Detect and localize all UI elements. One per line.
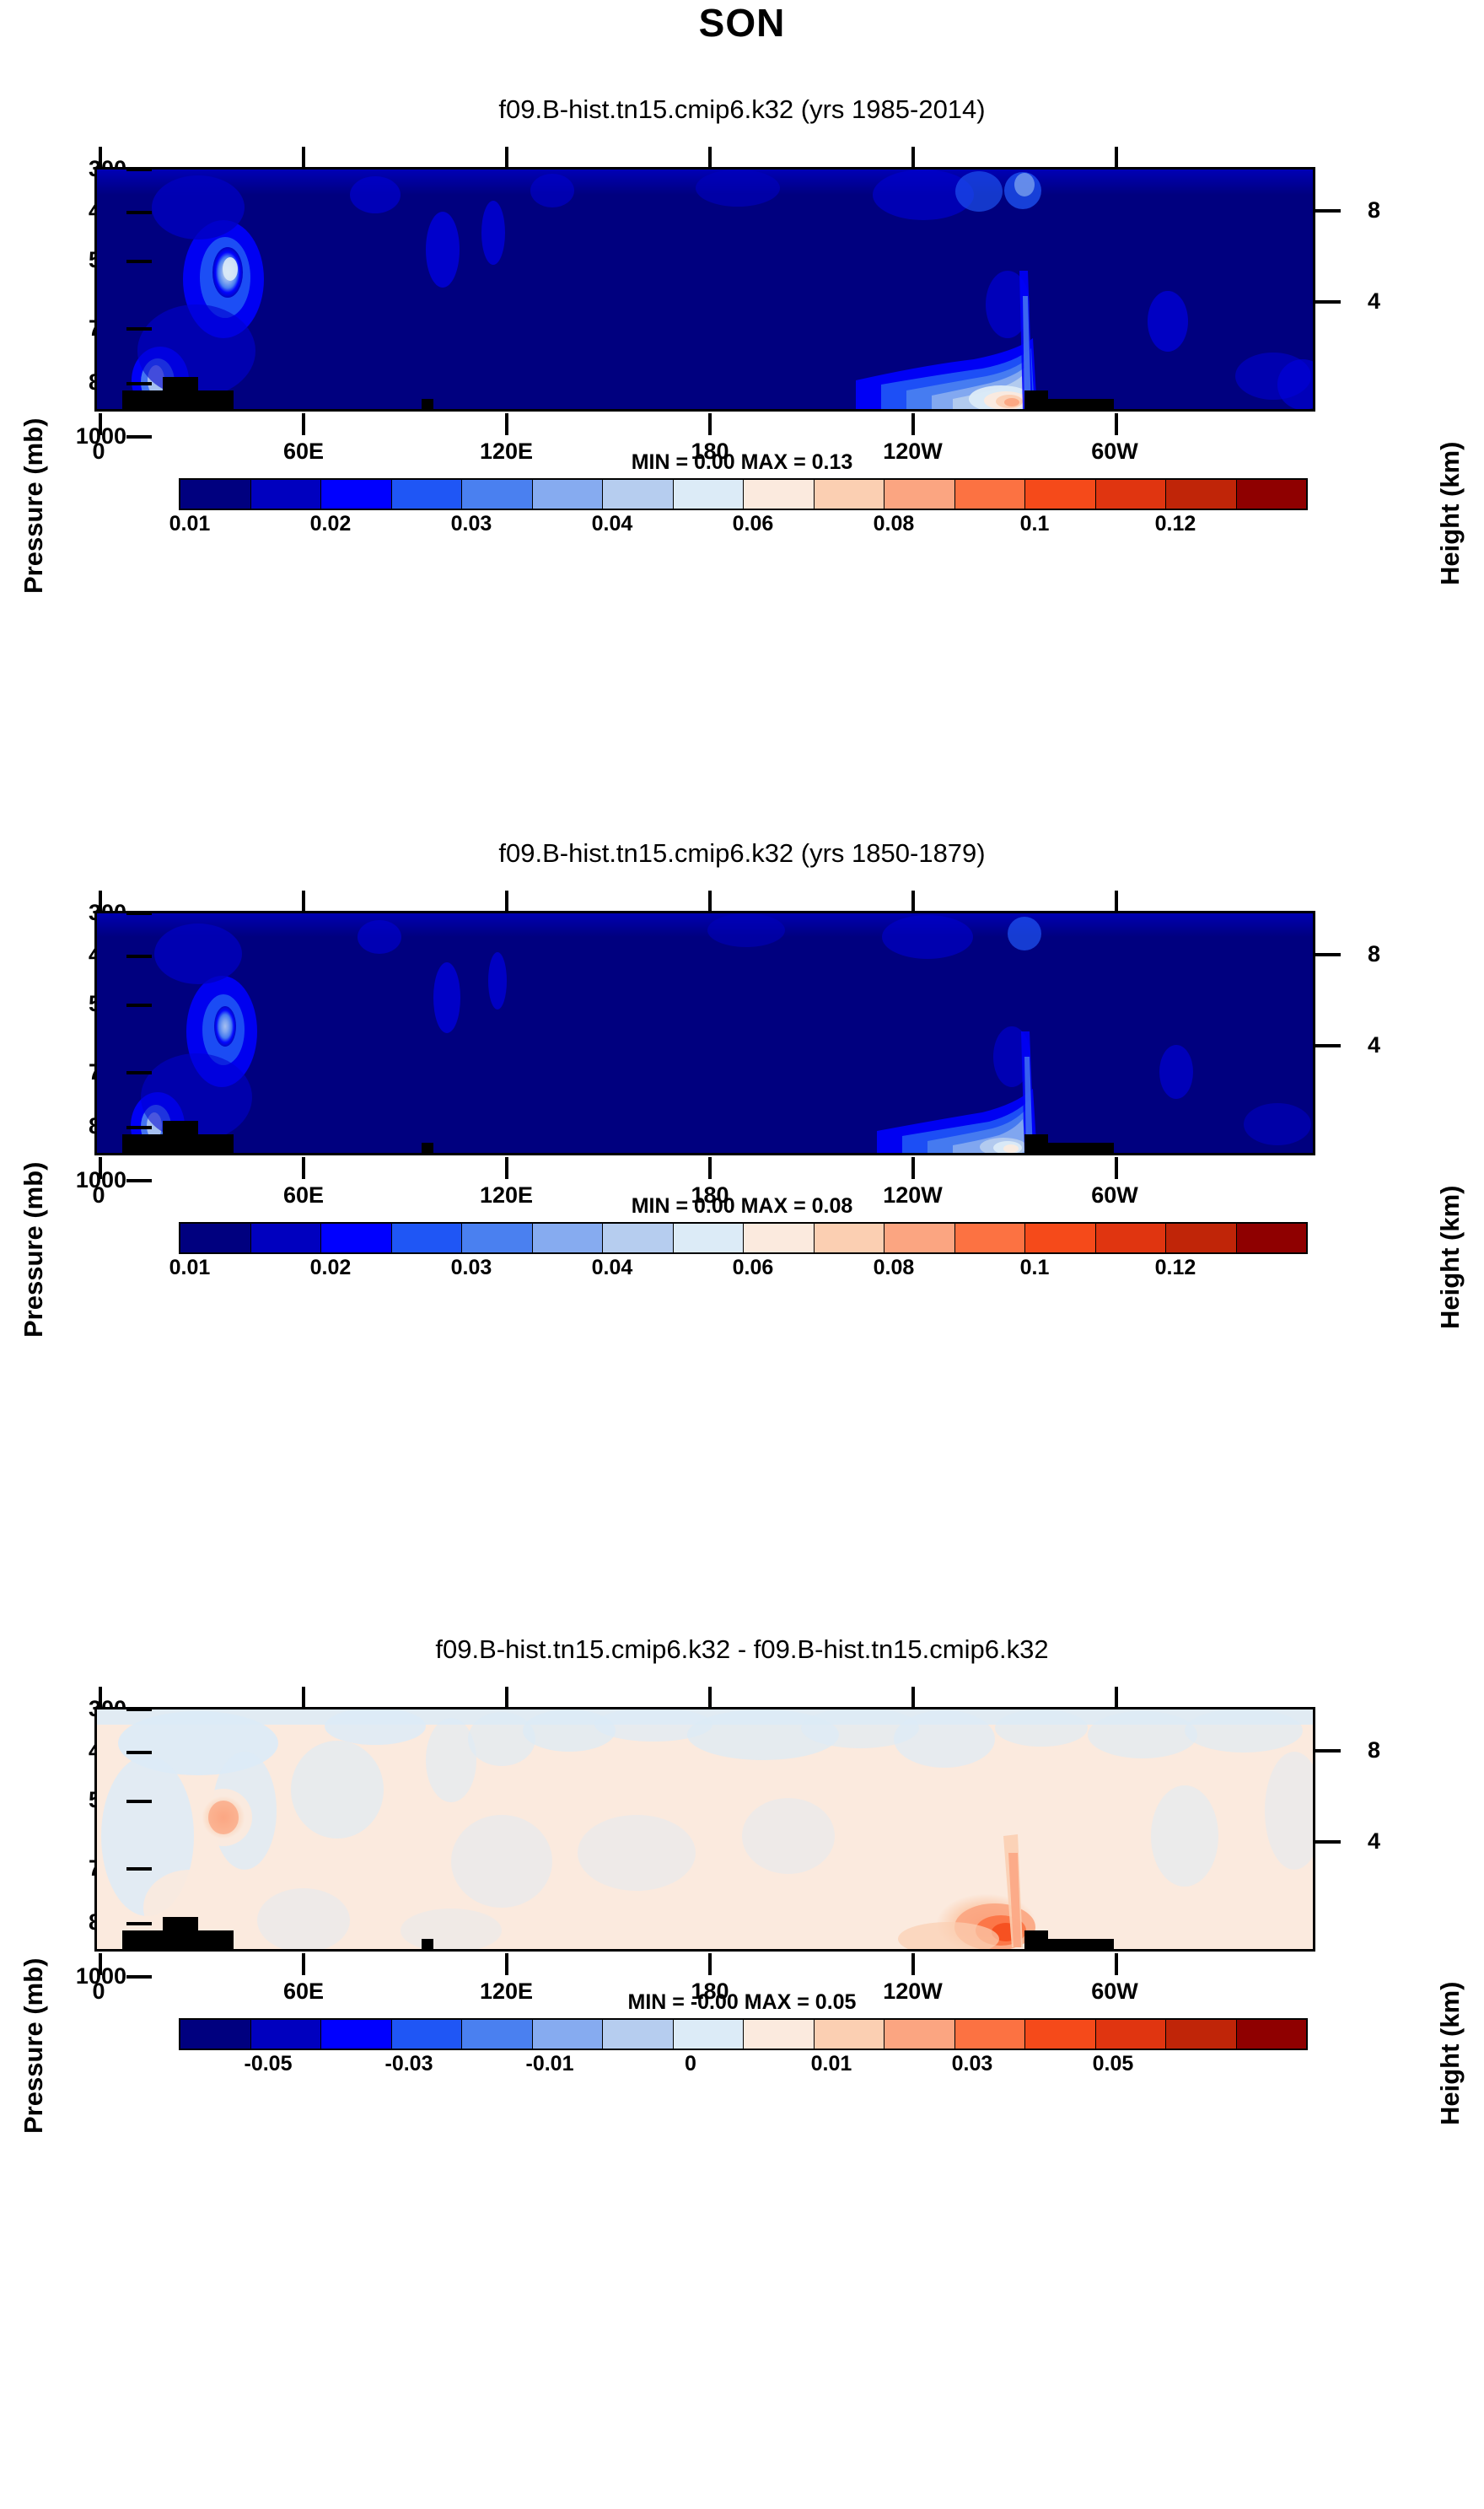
panel-1-xtick-mark-top [911, 147, 915, 167]
colorbar-cell-9 [815, 1224, 885, 1252]
panel-1-xtick-mark [302, 413, 305, 435]
panel-3-cbar-label: 0.05 [1037, 2052, 1189, 2076]
panel-3-y2tick-mark [1315, 1749, 1341, 1753]
panel-3-y2tick-8: 8 [1368, 1737, 1380, 1763]
panel-3-y2tick-mark [1315, 1840, 1341, 1844]
panel-1-xtick-mark [99, 413, 102, 435]
panel-2-cbar-label: 0.12 [1108, 1256, 1243, 1280]
panel-3-xtick-mark [911, 1953, 915, 1975]
colorbar-cell-13 [1096, 1224, 1167, 1252]
panel-1-terrain-mask [1024, 390, 1048, 409]
panel-3-xtick-mark [1115, 1953, 1118, 1975]
panel-2-cbar-label: 0.06 [686, 1256, 820, 1280]
panel-3-colorbar[interactable] [179, 2018, 1308, 2050]
colorbar-cell-3 [392, 1224, 463, 1252]
panel-2-terrain-mask [198, 1134, 234, 1153]
colorbar-cell-12 [1025, 2020, 1096, 2049]
panel-3-ytick-mark [126, 1800, 152, 1803]
colorbar-cell-12 [1025, 1224, 1096, 1252]
panel-2-ytick-mark [126, 1071, 152, 1074]
panel-1-colorbar[interactable] [179, 478, 1308, 510]
colorbar-cell-5 [533, 480, 604, 509]
colorbar-cell-7 [674, 480, 745, 509]
panel-1-plot[interactable] [94, 167, 1315, 412]
panel-1-y2tick-8: 8 [1368, 197, 1380, 223]
panel-2-xtick-mark-top [505, 891, 508, 911]
panel-1-ytick-mark [126, 327, 152, 331]
panel-2-plot[interactable] [94, 911, 1315, 1155]
panel-3-xtick-mark-top [302, 1687, 305, 1707]
colorbar-cell-15 [1237, 1224, 1307, 1252]
panel-2-cbar-label: 0.03 [404, 1256, 539, 1280]
panel-1-y2tick-4: 4 [1368, 288, 1380, 315]
panel-2-xtick-mark-top [911, 891, 915, 911]
colorbar-cell-6 [603, 2020, 674, 2049]
colorbar-cell-9 [815, 480, 885, 509]
panel-1-cbar-label: 0.12 [1108, 512, 1243, 536]
panel-2-y2tick-mark [1315, 1044, 1341, 1047]
colorbar-cell-13 [1096, 480, 1167, 509]
panel-3-minmax: MIN = -0.00 MAX = 0.05 [0, 1990, 1484, 2015]
panel-3-y2tick-4: 4 [1368, 1828, 1380, 1855]
colorbar-cell-8 [744, 1224, 815, 1252]
panel-3-terrain-mask [1024, 1930, 1048, 1949]
panel-2-xtick-mark-top [302, 891, 305, 911]
panel-1-cbar-label: 0.1 [967, 512, 1102, 536]
panel-3-terrain-mask [198, 1930, 234, 1949]
panel-2-xtick-mark [911, 1157, 915, 1179]
panel-3-xtick-mark [708, 1953, 712, 1975]
panel-3-cbar-label: -0.03 [333, 2052, 485, 2076]
panel-3-xtick-mark [99, 1953, 102, 1975]
panel-1-cbar-label: 0.01 [122, 512, 257, 536]
colorbar-cell-12 [1025, 480, 1096, 509]
panel-1-xtick-mark-top [99, 147, 102, 167]
panel-3-cbar-label: 0 [615, 2052, 766, 2076]
panel-1-cbar-label: 0.02 [263, 512, 398, 536]
panel-1-xtick-mark [708, 413, 712, 435]
colorbar-cell-0 [180, 1224, 251, 1252]
panel-3-ytick-mark [126, 1708, 152, 1711]
panel-1-ytick-mark [126, 382, 152, 385]
colorbar-cell-3 [392, 2020, 463, 2049]
panel-1-title: f09.B-hist.tn15.cmip6.k32 (yrs 1985-2014… [0, 94, 1484, 125]
panel-2-xtick-mark [302, 1157, 305, 1179]
panel-1-terrain-mask [122, 390, 163, 409]
colorbar-cell-0 [180, 480, 251, 509]
panel-2-cbar-label: 0.01 [122, 1256, 257, 1280]
panel-3-xtick-mark-top [99, 1687, 102, 1707]
panel-2-cbar-label: 0.04 [545, 1256, 680, 1280]
colorbar-cell-5 [533, 1224, 604, 1252]
panel-1-contour-field [97, 170, 1315, 411]
panel-1-terrain-mask [198, 390, 234, 409]
panel-2-y2tick-mark [1315, 953, 1341, 956]
main-title: SON [0, 0, 1484, 46]
colorbar-cell-2 [321, 2020, 392, 2049]
colorbar-cell-8 [744, 2020, 815, 2049]
colorbar-cell-3 [392, 480, 463, 509]
panel-2-terrain-mask [1048, 1143, 1114, 1153]
colorbar-cell-14 [1166, 1224, 1237, 1252]
panel-1-ytick-mark [126, 168, 152, 171]
colorbar-cell-1 [251, 480, 322, 509]
panel-2-xtick-mark-top [99, 891, 102, 911]
panel-1-cbar-label: 0.03 [404, 512, 539, 536]
panel-3-xtick-mark [302, 1953, 305, 1975]
panel-3-terrain-mask [122, 1930, 163, 1949]
panel-2-cbar-label: 0.08 [826, 1256, 961, 1280]
panel-2-terrain-mask [1024, 1134, 1048, 1153]
colorbar-cell-10 [884, 1224, 955, 1252]
colorbar-cell-14 [1166, 480, 1237, 509]
colorbar-cell-15 [1237, 480, 1307, 509]
panel-1-xtick-mark-top [708, 147, 712, 167]
panel-1-xtick-mark-top [1115, 147, 1118, 167]
panel-2-y2tick-8: 8 [1368, 941, 1380, 967]
panel-2-cbar-label: 0.02 [263, 1256, 398, 1280]
colorbar-cell-4 [462, 2020, 533, 2049]
panel-3-cbar-label: -0.05 [192, 2052, 344, 2076]
panel-1-xtick-mark [911, 413, 915, 435]
panel-2-xtick-mark [99, 1157, 102, 1179]
panel-3-title: f09.B-hist.tn15.cmip6.k32 - f09.B-hist.t… [0, 1634, 1484, 1665]
colorbar-cell-10 [884, 480, 955, 509]
panel-3-ytick-mark [126, 1751, 152, 1754]
panel-1-cbar-label: 0.06 [686, 512, 820, 536]
panel-2-title: f09.B-hist.tn15.cmip6.k32 (yrs 1850-1879… [0, 838, 1484, 869]
panel-3-ytick-mark [126, 1922, 152, 1925]
panel-1-xtick-mark-top [505, 147, 508, 167]
panel-1-cbar-label: 0.04 [545, 512, 680, 536]
colorbar-cell-4 [462, 480, 533, 509]
colorbar-cell-8 [744, 480, 815, 509]
colorbar-cell-2 [321, 480, 392, 509]
panel-2-ytick-mark [126, 912, 152, 915]
panel-2-xtick-mark-top [1115, 891, 1118, 911]
panel-2-contour-field [97, 913, 1315, 1155]
panel-1-y2tick-mark [1315, 300, 1341, 304]
panel-2-xtick-mark [505, 1157, 508, 1179]
panel-1-xtick-mark [1115, 413, 1118, 435]
colorbar-cell-11 [955, 480, 1026, 509]
panel-3-cbar-label: -0.01 [474, 2052, 626, 2076]
colorbar-cell-7 [674, 2020, 745, 2049]
colorbar-cell-11 [955, 2020, 1026, 2049]
panel-2-y2tick-4: 4 [1368, 1032, 1380, 1058]
panel-3-xtick-mark [505, 1953, 508, 1975]
panel-1-minmax: MIN = 0.00 MAX = 0.13 [0, 450, 1484, 475]
panel-1-y2tick-mark [1315, 209, 1341, 213]
panel-2-ytick-mark [126, 955, 152, 958]
colorbar-cell-9 [815, 2020, 885, 2049]
panel-1-xtick-mark [505, 413, 508, 435]
panel-2-ytick-mark [126, 1126, 152, 1129]
colorbar-cell-5 [533, 2020, 604, 2049]
panel-2-cbar-label: 0.1 [967, 1256, 1102, 1280]
panel-1-ytick-mark [126, 211, 152, 214]
colorbar-cell-15 [1237, 2020, 1307, 2049]
panel-2-xtick-mark [1115, 1157, 1118, 1179]
colorbar-cell-14 [1166, 2020, 1237, 2049]
colorbar-cell-2 [321, 1224, 392, 1252]
colorbar-cell-0 [180, 2020, 251, 2049]
colorbar-cell-6 [603, 1224, 674, 1252]
panel-3-xtick-mark-top [911, 1687, 915, 1707]
panel-1-terrain-mask [1048, 399, 1114, 409]
panel-2-terrain-mask [163, 1121, 198, 1153]
colorbar-cell-4 [462, 1224, 533, 1252]
panel-2-colorbar[interactable] [179, 1222, 1308, 1254]
panel-1-terrain-mask [422, 399, 433, 409]
colorbar-cell-1 [251, 2020, 322, 2049]
panel-1-ytick-mark [126, 260, 152, 263]
panel-2-xtick-mark-top [708, 891, 712, 911]
panel-2-ytick-mark [126, 1004, 152, 1007]
colorbar-cell-13 [1096, 2020, 1167, 2049]
panel-2-terrain-mask [122, 1134, 163, 1153]
panel-3-cbar-label: 0.03 [896, 2052, 1048, 2076]
panel-3-cbar-label: 0.01 [755, 2052, 907, 2076]
panel-3-terrain-mask [422, 1939, 433, 1949]
panel-1-cbar-label: 0.08 [826, 512, 961, 536]
panel-3-terrain-mask [1048, 1939, 1114, 1949]
colorbar-cell-1 [251, 1224, 322, 1252]
colorbar-cell-10 [884, 2020, 955, 2049]
colorbar-cell-7 [674, 1224, 745, 1252]
panel-3-xtick-mark-top [1115, 1687, 1118, 1707]
panel-3-ytick-mark [126, 1867, 152, 1871]
colorbar-cell-11 [955, 1224, 1026, 1252]
panel-2-minmax: MIN = 0.00 MAX = 0.08 [0, 1194, 1484, 1219]
panel-3-plot[interactable] [94, 1707, 1315, 1952]
panel-3-xtick-mark-top [505, 1687, 508, 1707]
panel-3-xtick-mark-top [708, 1687, 712, 1707]
panel-1-terrain-mask [163, 377, 198, 409]
panel-3-contour-field [97, 1709, 1315, 1951]
panel-1-xtick-mark-top [302, 147, 305, 167]
panel-3-terrain-mask [163, 1917, 198, 1949]
colorbar-cell-6 [603, 480, 674, 509]
panel-2-xtick-mark [708, 1157, 712, 1179]
panel-2-terrain-mask [422, 1143, 433, 1153]
